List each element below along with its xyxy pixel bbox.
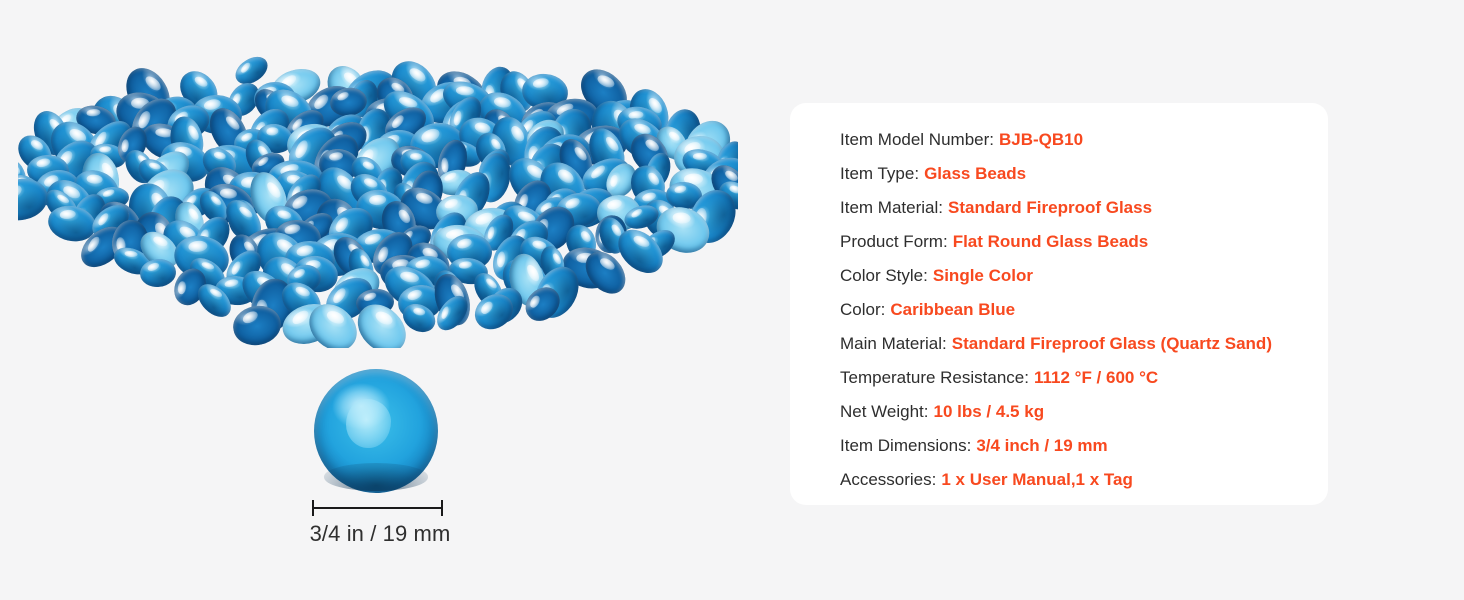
spec-value: Standard Fireproof Glass (Quartz Sand)	[952, 334, 1272, 353]
spec-value: Caribbean Blue	[890, 300, 1015, 319]
spec-row: Accessories:1 x User Manual,1 x Tag	[840, 463, 1298, 497]
spec-value: 1112 °F / 600 °C	[1034, 368, 1158, 387]
spec-row: Color:Caribbean Blue	[840, 293, 1298, 327]
spec-value: 3/4 inch / 19 mm	[976, 436, 1107, 455]
spec-value: Single Color	[933, 266, 1033, 285]
product-visual: 3/4 in / 19 mm	[0, 0, 760, 600]
dimension-rule	[312, 507, 443, 509]
spec-row: Item Material:Standard Fireproof Glass	[840, 191, 1298, 225]
spec-row: Temperature Resistance:1112 °F / 600 °C	[840, 361, 1298, 395]
spec-label: Net Weight:	[840, 402, 929, 421]
single-bead-image	[314, 369, 438, 493]
spec-value: Flat Round Glass Beads	[953, 232, 1149, 251]
spec-label: Main Material:	[840, 334, 947, 353]
spec-label: Product Form:	[840, 232, 948, 251]
spec-value: 10 lbs / 4.5 kg	[934, 402, 1045, 421]
spec-label: Item Model Number:	[840, 130, 994, 149]
spec-row: Net Weight:10 lbs / 4.5 kg	[840, 395, 1298, 429]
spec-row: Item Model Number:BJB-QB10	[840, 123, 1298, 157]
dimension-line	[312, 500, 443, 516]
product-detail-banner: 3/4 in / 19 mm Item Model Number:BJB-QB1…	[0, 0, 1464, 600]
dimension-cap-right	[441, 500, 443, 516]
spec-row: Product Form:Flat Round Glass Beads	[840, 225, 1298, 259]
spec-value: 1 x User Manual,1 x Tag	[941, 470, 1132, 489]
spec-row: Item Type:Glass Beads	[840, 157, 1298, 191]
bead-pile-image	[18, 52, 738, 348]
spec-label: Item Material:	[840, 198, 943, 217]
spec-label: Item Type:	[840, 164, 919, 183]
bead-pile-stage	[18, 52, 738, 348]
spec-value: Glass Beads	[924, 164, 1026, 183]
spec-label: Temperature Resistance:	[840, 368, 1029, 387]
spec-label: Color Style:	[840, 266, 928, 285]
spec-label: Item Dimensions:	[840, 436, 971, 455]
spec-row: Color Style:Single Color	[840, 259, 1298, 293]
bead-highlight	[346, 399, 391, 449]
specification-list: Item Model Number:BJB-QB10Item Type:Glas…	[840, 123, 1298, 497]
dimension-caption: 3/4 in / 19 mm	[0, 521, 760, 547]
spec-row: Main Material:Standard Fireproof Glass (…	[840, 327, 1298, 361]
spec-label: Accessories:	[840, 470, 936, 489]
bead-base-shadow	[324, 463, 428, 490]
spec-row: Item Dimensions:3/4 inch / 19 mm	[840, 429, 1298, 463]
spec-value: Standard Fireproof Glass	[948, 198, 1152, 217]
spec-label: Color:	[840, 300, 885, 319]
spec-value: BJB-QB10	[999, 130, 1083, 149]
specification-card: Item Model Number:BJB-QB10Item Type:Glas…	[790, 103, 1328, 505]
